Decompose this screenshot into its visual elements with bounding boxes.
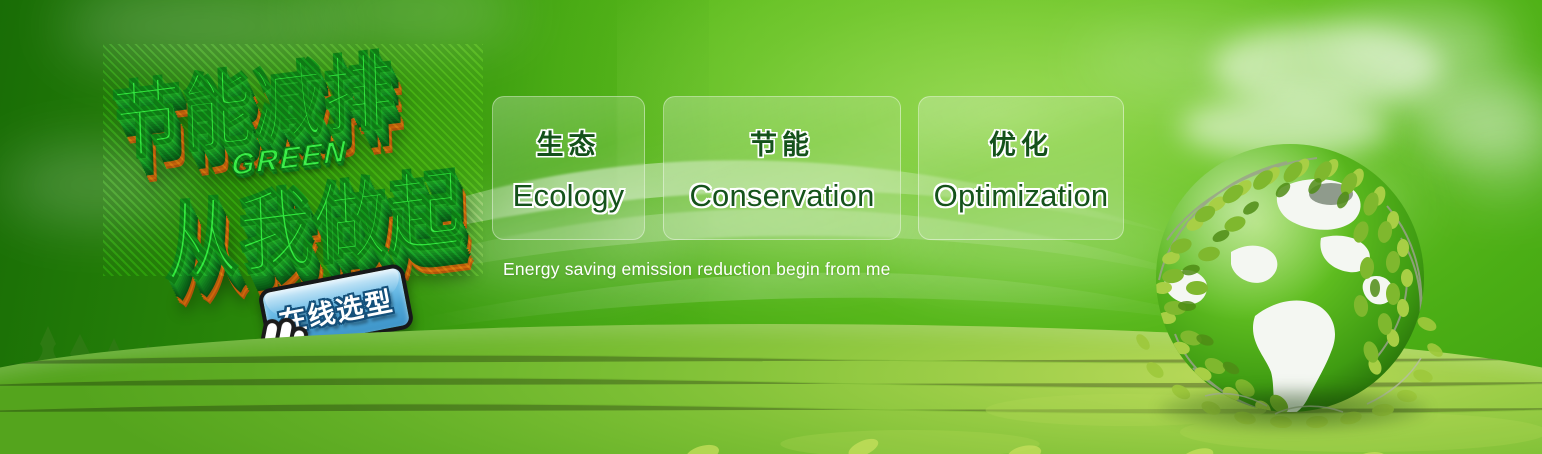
globe-illustration: [1135, 128, 1445, 428]
feature-card-en-label: Conservation: [689, 178, 874, 214]
feature-card-ecology[interactable]: 生态 Ecology: [492, 96, 645, 240]
banner-subtitle: Energy saving emission reduction begin f…: [503, 259, 891, 280]
cloud-icon: [1080, 30, 1280, 90]
feature-card-optimization[interactable]: 优化 Optimization: [918, 96, 1124, 240]
feature-card-en-label: Optimization: [934, 178, 1109, 214]
feature-card-cn-label: 生态: [537, 123, 601, 162]
eco-hero-banner: 节能减排 GREEN 从我做起 在线选型 生态 Ecology 节能 Conse…: [0, 0, 1542, 454]
globe-shadow: [1157, 386, 1429, 432]
feature-card-cn-label: 优化: [989, 123, 1053, 162]
feature-card-conservation[interactable]: 节能 Conservation: [663, 96, 901, 240]
feature-card-en-label: Ecology: [513, 178, 625, 214]
cloud-icon: [1330, 8, 1510, 78]
feature-card-cn-label: 节能: [750, 123, 814, 162]
leafy-earth-globe: [1135, 128, 1445, 428]
hero-logo: 节能减排 GREEN 从我做起: [103, 44, 483, 276]
